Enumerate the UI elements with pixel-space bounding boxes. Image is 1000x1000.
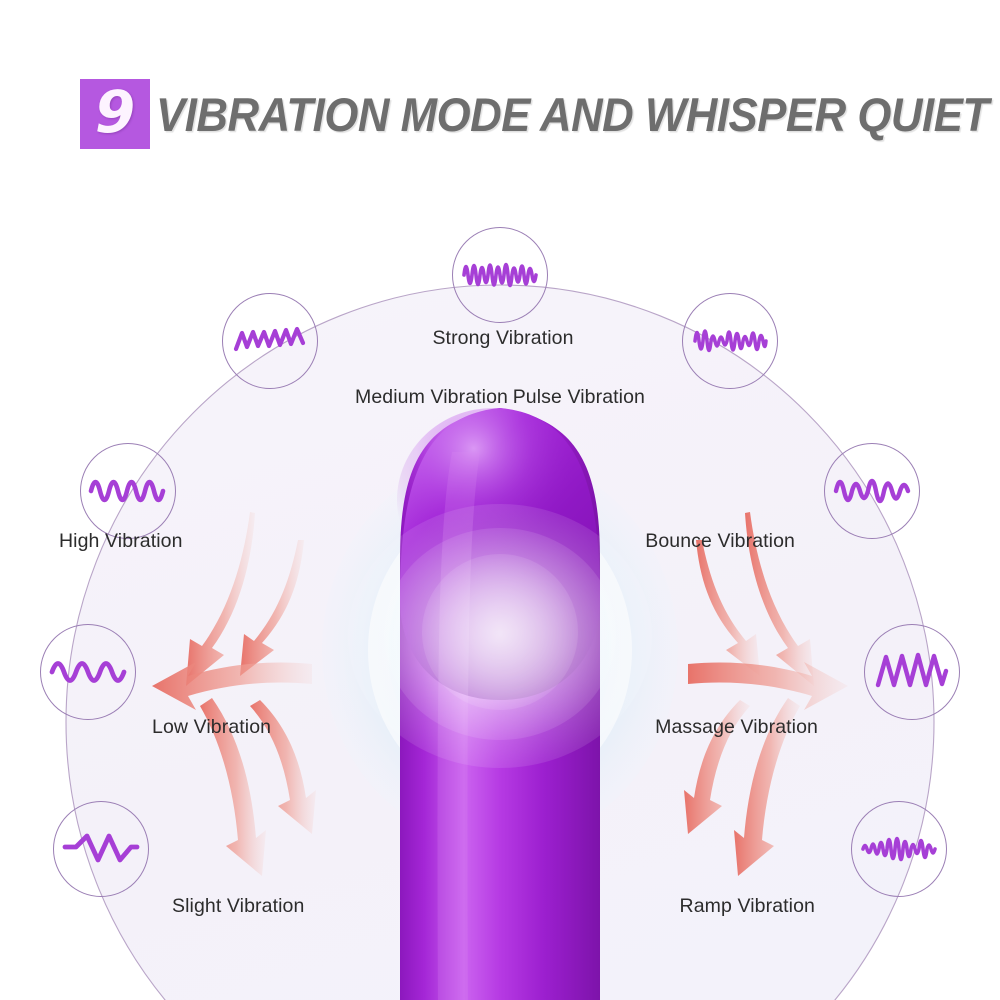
mode-circle-pulse[interactable] [682,293,778,389]
mode-circle-strong[interactable] [452,227,548,323]
wave-sine-high-icon [89,471,167,511]
wave-triangle-slight-icon [63,832,139,866]
mode-label-slight: Slight Vibration [172,895,304,918]
mode-label-massage: Massage Vibration [655,716,818,739]
mode-label-low: Low Vibration [152,716,271,739]
mode-circle-bounce[interactable] [824,443,920,539]
mode-circle-high[interactable] [80,443,176,539]
wave-dense-strong-icon [462,252,538,298]
wave-ramp-icon [861,826,937,872]
mode-label-bounce: Bounce Vibration [645,530,795,553]
wave-pulse-icon [693,319,767,363]
mode-circle-slight[interactable] [53,801,149,897]
diagram-stage: Medium Vibration Strong Vibration Pulse … [0,0,1000,1000]
mode-circle-medium[interactable] [222,293,318,389]
mode-label-pulse: Pulse Vibration [513,386,645,409]
mode-label-strong: Strong Vibration [432,327,573,350]
wave-zigzag-medium-icon [234,321,306,361]
wave-bounce-icon [834,469,910,513]
product-vibration-pulses [348,504,652,768]
mode-label-medium: Medium Vibration [355,386,508,409]
mode-label-high: High Vibration [59,530,183,553]
mode-circle-ramp[interactable] [851,801,947,897]
mode-circle-massage[interactable] [864,624,960,720]
product-infographic: 9 VIBRATION MODE AND WHISPER QUIET [0,0,1000,1000]
mode-label-ramp: Ramp Vibration [680,895,815,918]
wave-sine-low-icon [50,653,126,691]
wave-sawtooth-massage-icon [876,651,948,693]
mode-circle-low[interactable] [40,624,136,720]
